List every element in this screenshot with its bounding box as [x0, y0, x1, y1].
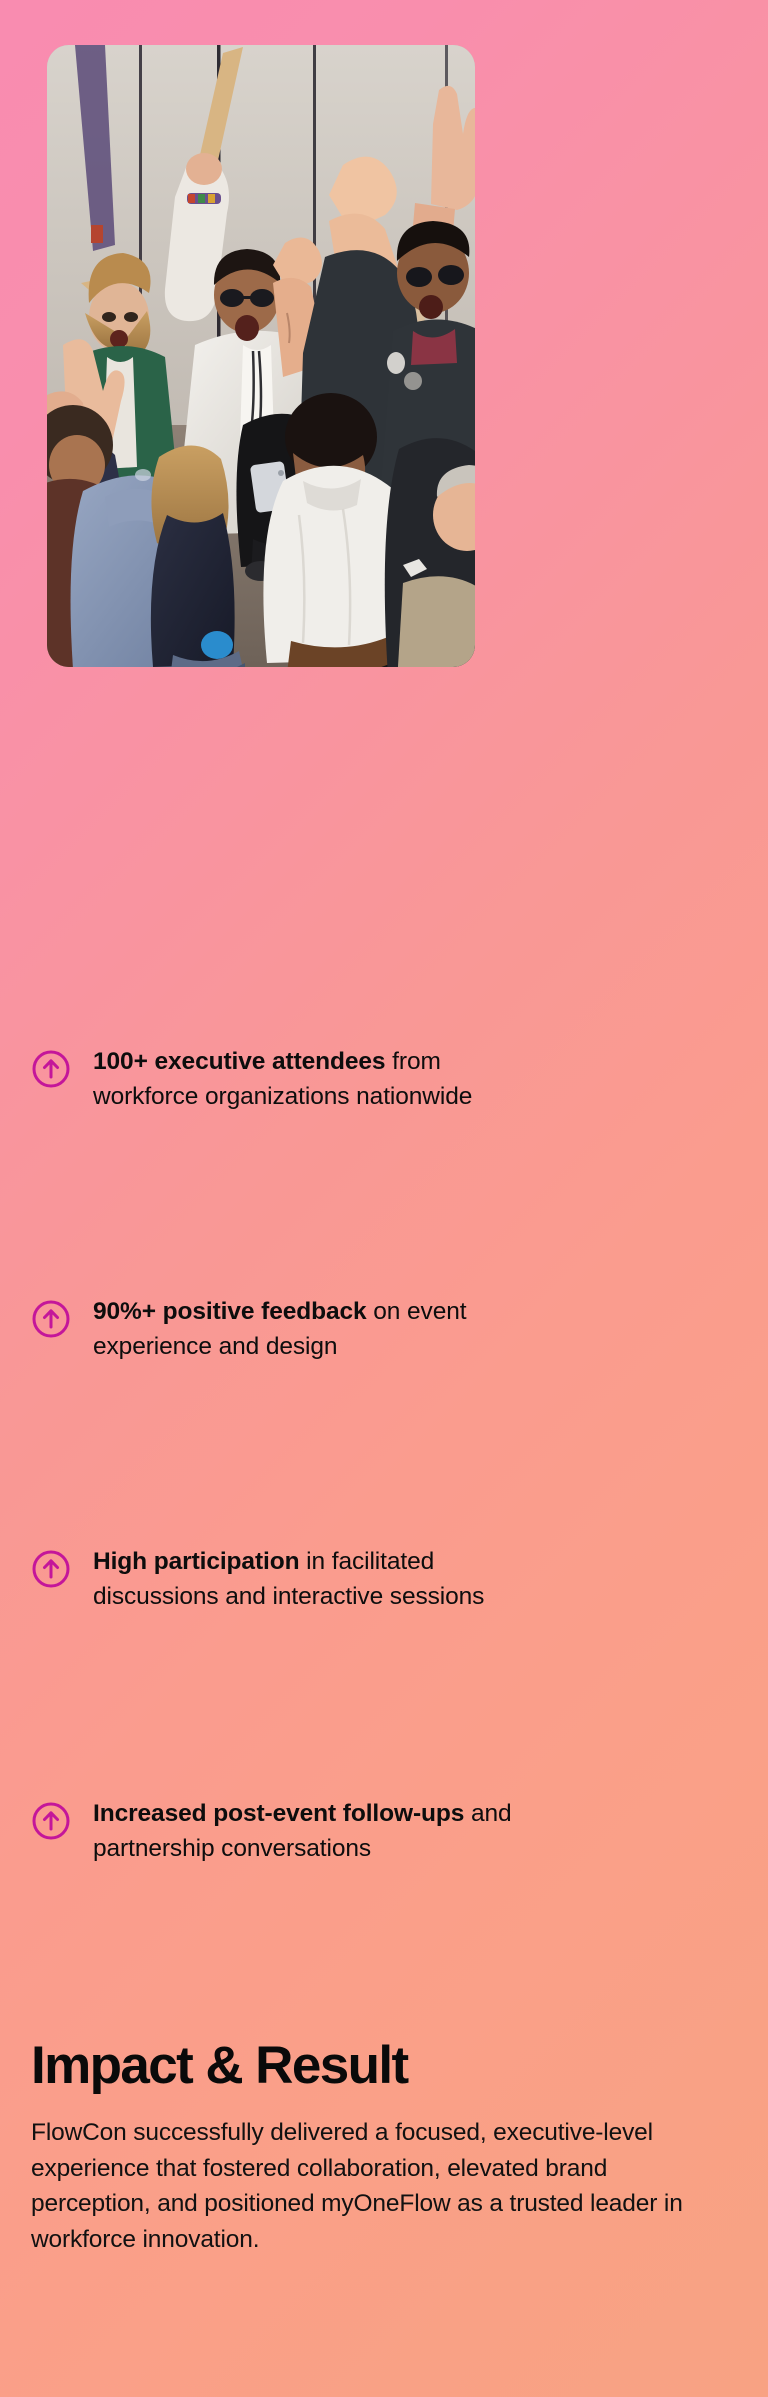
impact-body-text: FlowCon successfully delivered a focused… — [31, 2115, 691, 2257]
highlight-text: 100+ executive attendees from workforce … — [93, 1045, 513, 1115]
highlight-bold: 90%+ positive feedback — [93, 1298, 367, 1325]
list-item: Increased post-event follow-ups and part… — [0, 1797, 768, 1957]
event-celebration-photo — [47, 45, 475, 667]
highlight-bold: 100+ executive attendees — [93, 1048, 385, 1075]
circle-arrow-up-icon — [31, 1299, 71, 1339]
circle-arrow-up-icon — [31, 1049, 71, 1089]
impact-section: Impact & Result FlowCon successfully del… — [31, 2037, 737, 2257]
circle-arrow-up-icon — [31, 1801, 71, 1841]
highlight-text: High participation in facilitated discus… — [93, 1545, 513, 1615]
list-item: High participation in facilitated discus… — [0, 1545, 768, 1797]
highlight-text: Increased post-event follow-ups and part… — [93, 1797, 513, 1867]
page-title: Impact & Result — [31, 2037, 737, 2094]
hero-photo-card — [47, 45, 475, 667]
highlight-text: 90%+ positive feedback on event experien… — [93, 1295, 513, 1365]
highlight-bold: Increased post-event follow-ups — [93, 1800, 464, 1827]
circle-arrow-up-icon — [31, 1549, 71, 1589]
highlight-bold: High participation — [93, 1548, 299, 1575]
highlights-list: 100+ executive attendees from workforce … — [0, 1045, 768, 1957]
list-item: 100+ executive attendees from workforce … — [0, 1045, 768, 1295]
list-item: 90%+ positive feedback on event experien… — [0, 1295, 768, 1545]
